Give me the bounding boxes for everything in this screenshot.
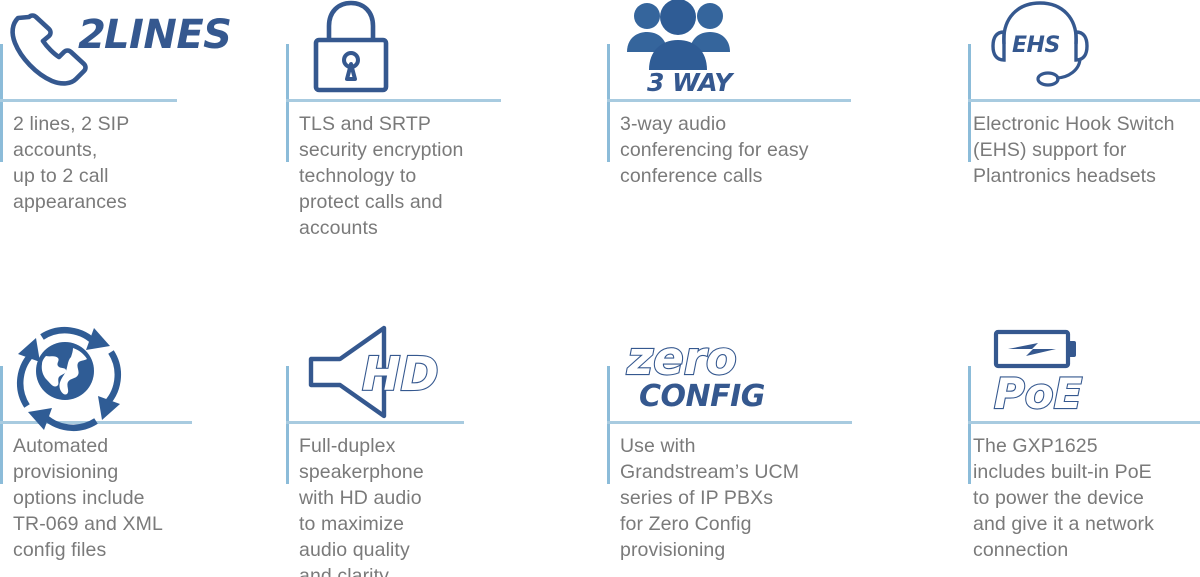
battery-poe-icon: PoE — [990, 326, 1130, 418]
svg-text:LINES: LINES — [104, 12, 231, 58]
headset-ehs-icon: EHS — [988, 0, 1098, 92]
cell-vertical-rule — [286, 366, 289, 484]
speaker-hd-audio-icon: HD — [300, 324, 460, 420]
svg-text:CONFIG: CONFIG — [639, 379, 765, 414]
three-people-conference-icon: 3 WAY — [621, 0, 739, 94]
svg-text:zero: zero — [626, 332, 737, 385]
cell-vertical-rule — [0, 44, 3, 162]
svg-text:2: 2 — [78, 12, 105, 58]
feature-description: Use with Grandstream’s UCM series of IP … — [620, 433, 900, 563]
svg-text:HD: HD — [362, 347, 439, 401]
cell-horizontal-rule — [607, 421, 852, 424]
svg-text:PoE: PoE — [994, 369, 1083, 418]
feature-description: Full-duplex speakerphone with HD audio t… — [299, 433, 574, 577]
globe-provisioning-arrows-icon — [10, 320, 128, 420]
cell-horizontal-rule — [286, 99, 501, 102]
feature-description: 2 lines, 2 SIP accounts, up to 2 call ap… — [13, 111, 283, 215]
feature-description: TLS and SRTP security encryption technol… — [299, 111, 574, 241]
feature-grid: 2 LINES 2 lines, 2 SIP accounts, up to 2… — [0, 0, 1200, 577]
cell-horizontal-rule — [607, 99, 851, 102]
feature-description: The GXP1625 includes built-in PoE to pow… — [973, 433, 1200, 563]
feature-description: 3-way audio conferencing for easy confer… — [620, 111, 900, 189]
cell-horizontal-rule — [968, 421, 1200, 424]
cell-vertical-rule — [968, 44, 971, 162]
cell-vertical-rule — [286, 44, 289, 162]
cell-vertical-rule — [607, 366, 610, 484]
cell-horizontal-rule — [286, 421, 464, 424]
cell-vertical-rule — [968, 366, 971, 484]
cell-horizontal-rule — [0, 99, 177, 102]
zero-config-wordmark-icon: zero CONFIG — [627, 334, 797, 414]
cell-vertical-rule — [607, 44, 610, 162]
feature-description: Electronic Hook Switch (EHS) support for… — [973, 111, 1200, 189]
feature-description: Automated provisioning options include T… — [13, 433, 288, 563]
padlock-security-icon — [306, 0, 416, 94]
cell-vertical-rule — [0, 366, 3, 484]
phone-handset-2-lines-icon: 2 LINES — [6, 2, 186, 90]
svg-text:EHS: EHS — [1012, 33, 1060, 58]
cell-horizontal-rule — [968, 99, 1200, 102]
svg-text:3 WAY: 3 WAY — [647, 68, 735, 97]
